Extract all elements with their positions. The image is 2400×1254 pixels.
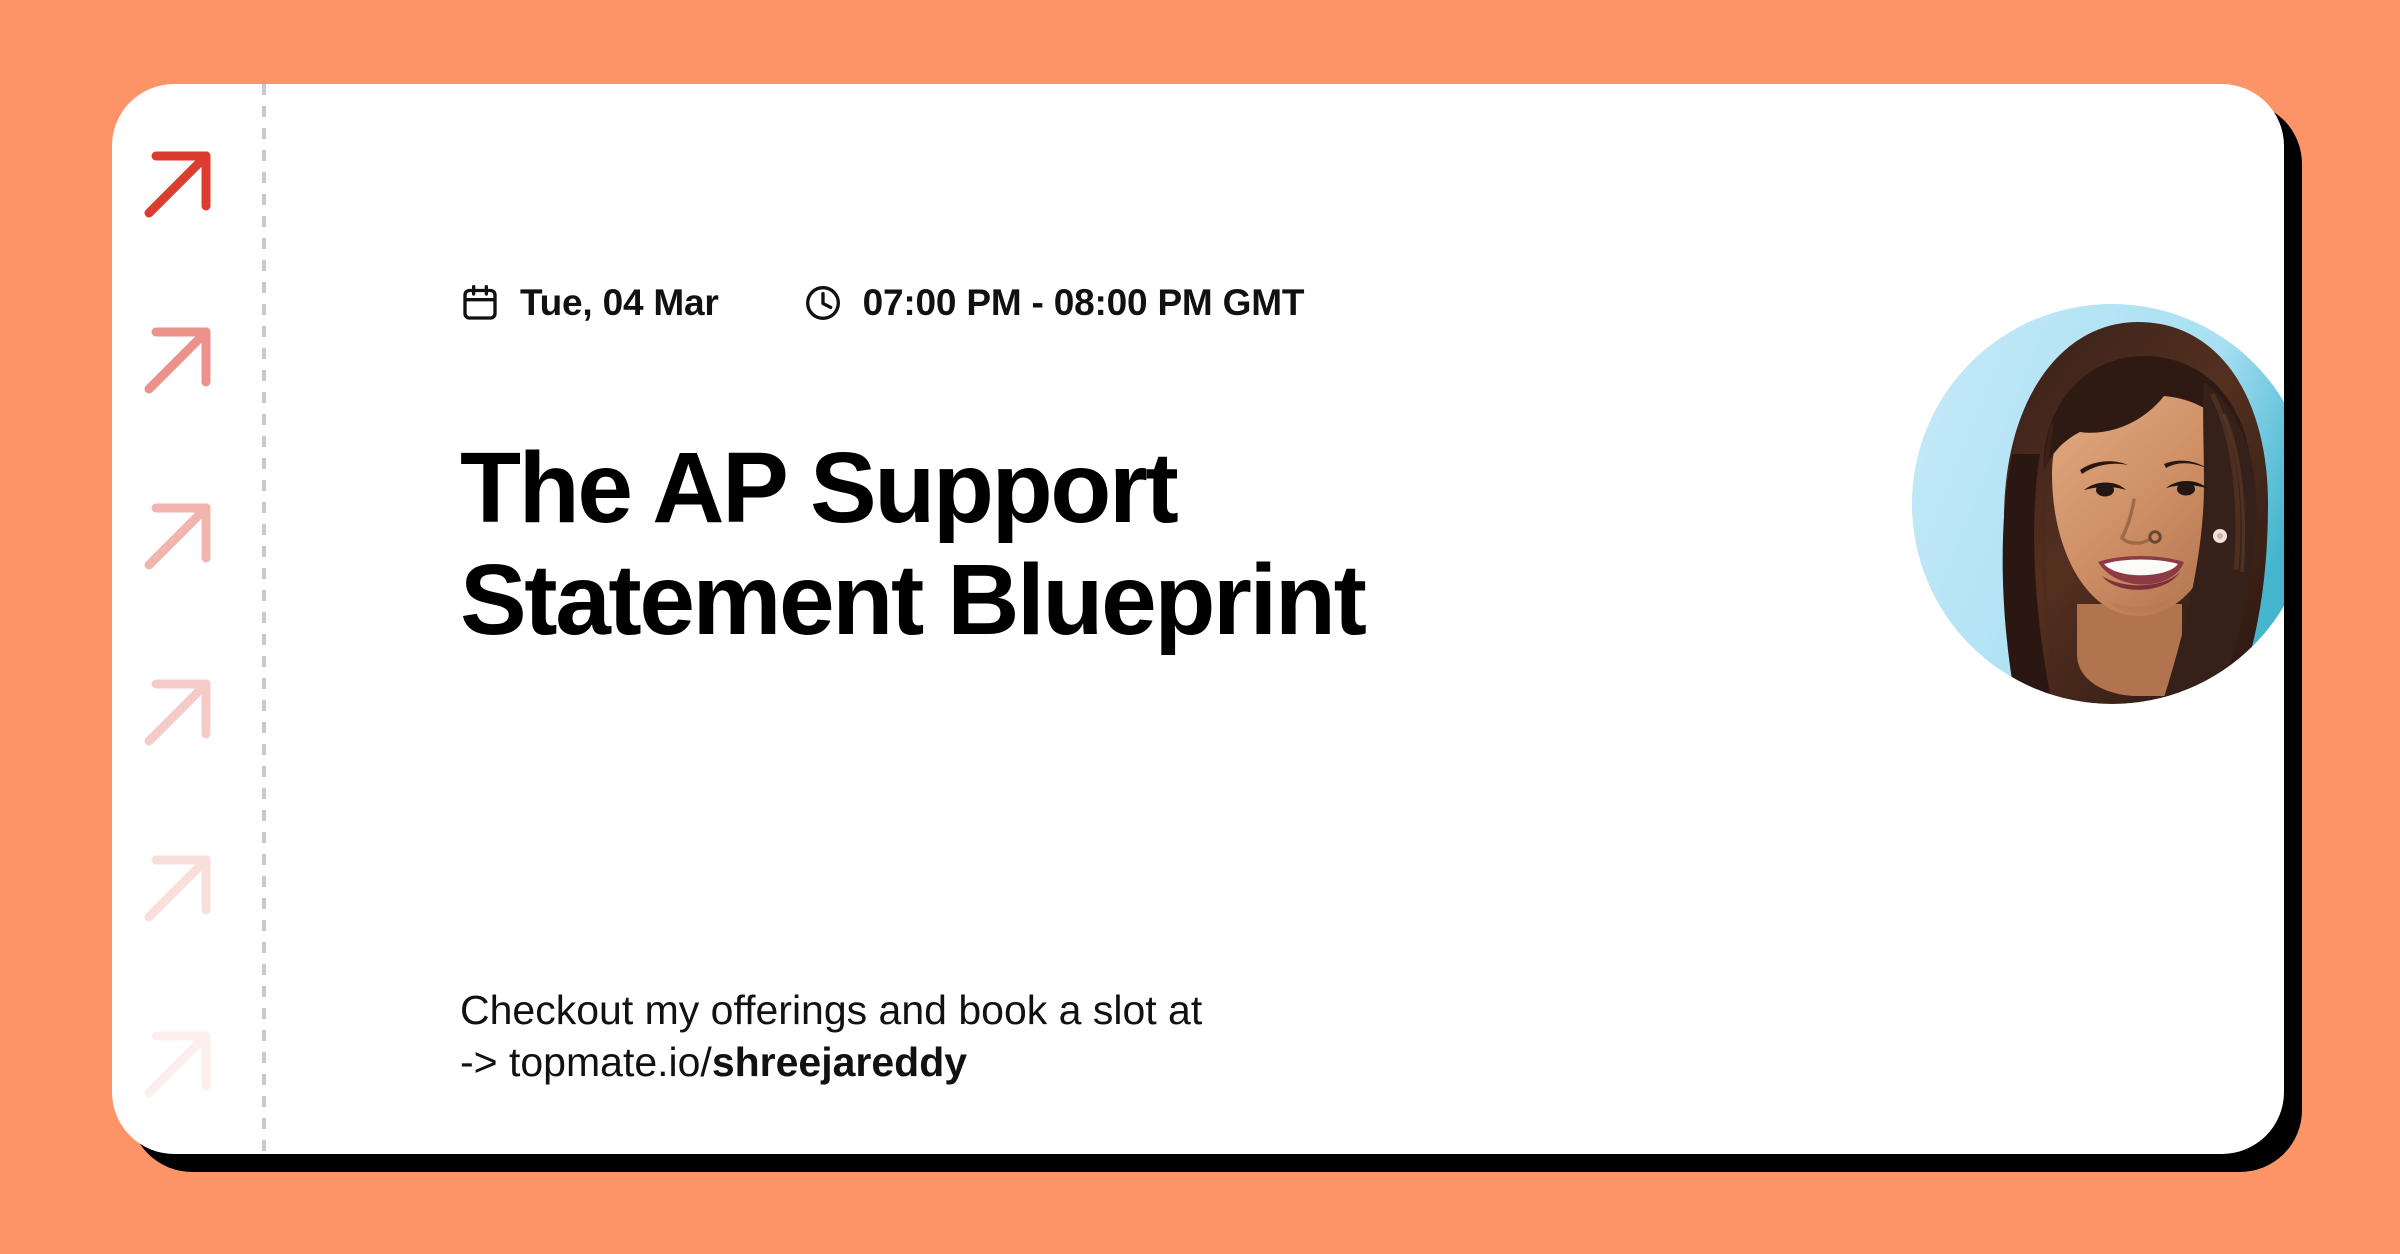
arrow-up-right-icon [142, 146, 216, 220]
event-meta-row: Tue, 04 Mar 07:00 PM - 08:00 PM GMT [460, 282, 1304, 324]
dashed-divider [262, 84, 266, 1154]
cta-text: Checkout my offerings and book a slot at… [460, 984, 1202, 1089]
calendar-icon [460, 283, 500, 323]
event-time-text: 07:00 PM - 08:00 PM GMT [863, 282, 1305, 324]
event-time: 07:00 PM - 08:00 PM GMT [803, 282, 1305, 324]
title-line-1: The AP Support [460, 432, 1176, 544]
arrow-up-right-icon [142, 498, 216, 572]
cta-link-handle: shreejareddy [712, 1039, 967, 1085]
cta-line-1: Checkout my offerings and book a slot at [460, 984, 1202, 1036]
event-date-text: Tue, 04 Mar [520, 282, 719, 324]
arrow-up-right-icon [142, 674, 216, 748]
page-title: The AP Support Statement Blueprint [460, 432, 1780, 656]
clock-icon [803, 283, 843, 323]
cta-link-prefix: -> topmate.io/ [460, 1039, 712, 1085]
arrow-up-right-icon [142, 850, 216, 924]
cta-link-line[interactable]: -> topmate.io/shreejareddy [460, 1036, 1202, 1088]
avatar [1912, 304, 2284, 704]
arrow-up-right-icon [142, 322, 216, 396]
card-surface: Tue, 04 Mar 07:00 PM - 08:00 PM GMT The … [112, 84, 2284, 1154]
event-date: Tue, 04 Mar [460, 282, 719, 324]
event-card: Tue, 04 Mar 07:00 PM - 08:00 PM GMT The … [112, 84, 2284, 1154]
card-content: Tue, 04 Mar 07:00 PM - 08:00 PM GMT The … [460, 84, 2284, 1154]
arrow-up-right-icon [142, 1026, 216, 1100]
title-line-2: Statement Blueprint [460, 544, 1365, 656]
decorative-arrow-rail [112, 84, 262, 1154]
